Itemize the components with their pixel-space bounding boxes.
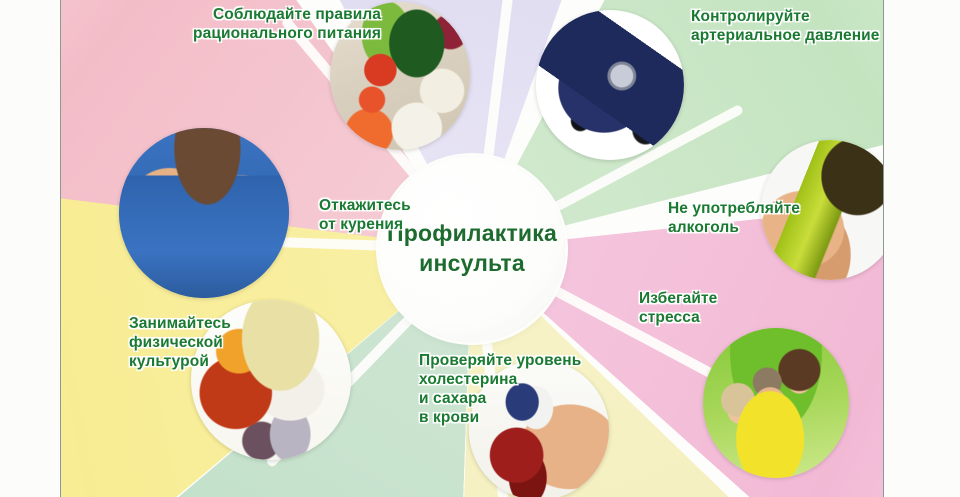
blood-pressure-cuff-image (536, 10, 684, 160)
label-exercise: Занимайтесь физической культурой (129, 315, 289, 372)
label-smoking: Откажитесь от курения (319, 197, 449, 235)
photo-happy-family (703, 328, 849, 478)
photo-blood-pressure-cuff (536, 10, 684, 160)
label-nutrition: Соблюдайте правила рационального питания (156, 6, 381, 44)
center-hub: Профилактика инсульта (379, 156, 565, 342)
stroke-prevention-infographic: Профилактика инсульта Соблюдайте правила… (0, 0, 960, 497)
label-cholesterol: Проверяйте уровень холестерина и сахара … (419, 352, 599, 428)
label-alcohol: Не употребляйте алкоголь (668, 200, 848, 238)
left-frame-border (60, 0, 61, 497)
photo-breaking-cigarette (119, 128, 289, 298)
right-frame-border (883, 0, 884, 497)
breaking-cigarette-image (119, 128, 289, 298)
happy-family-image (703, 328, 849, 478)
infographic-canvas: Профилактика инсульта Соблюдайте правила… (61, 0, 883, 497)
label-pressure: Контролируйте артериальное давление (691, 8, 883, 46)
label-stress: Избегайте стресса (639, 290, 789, 328)
center-title-line2: инсульта (387, 249, 557, 279)
